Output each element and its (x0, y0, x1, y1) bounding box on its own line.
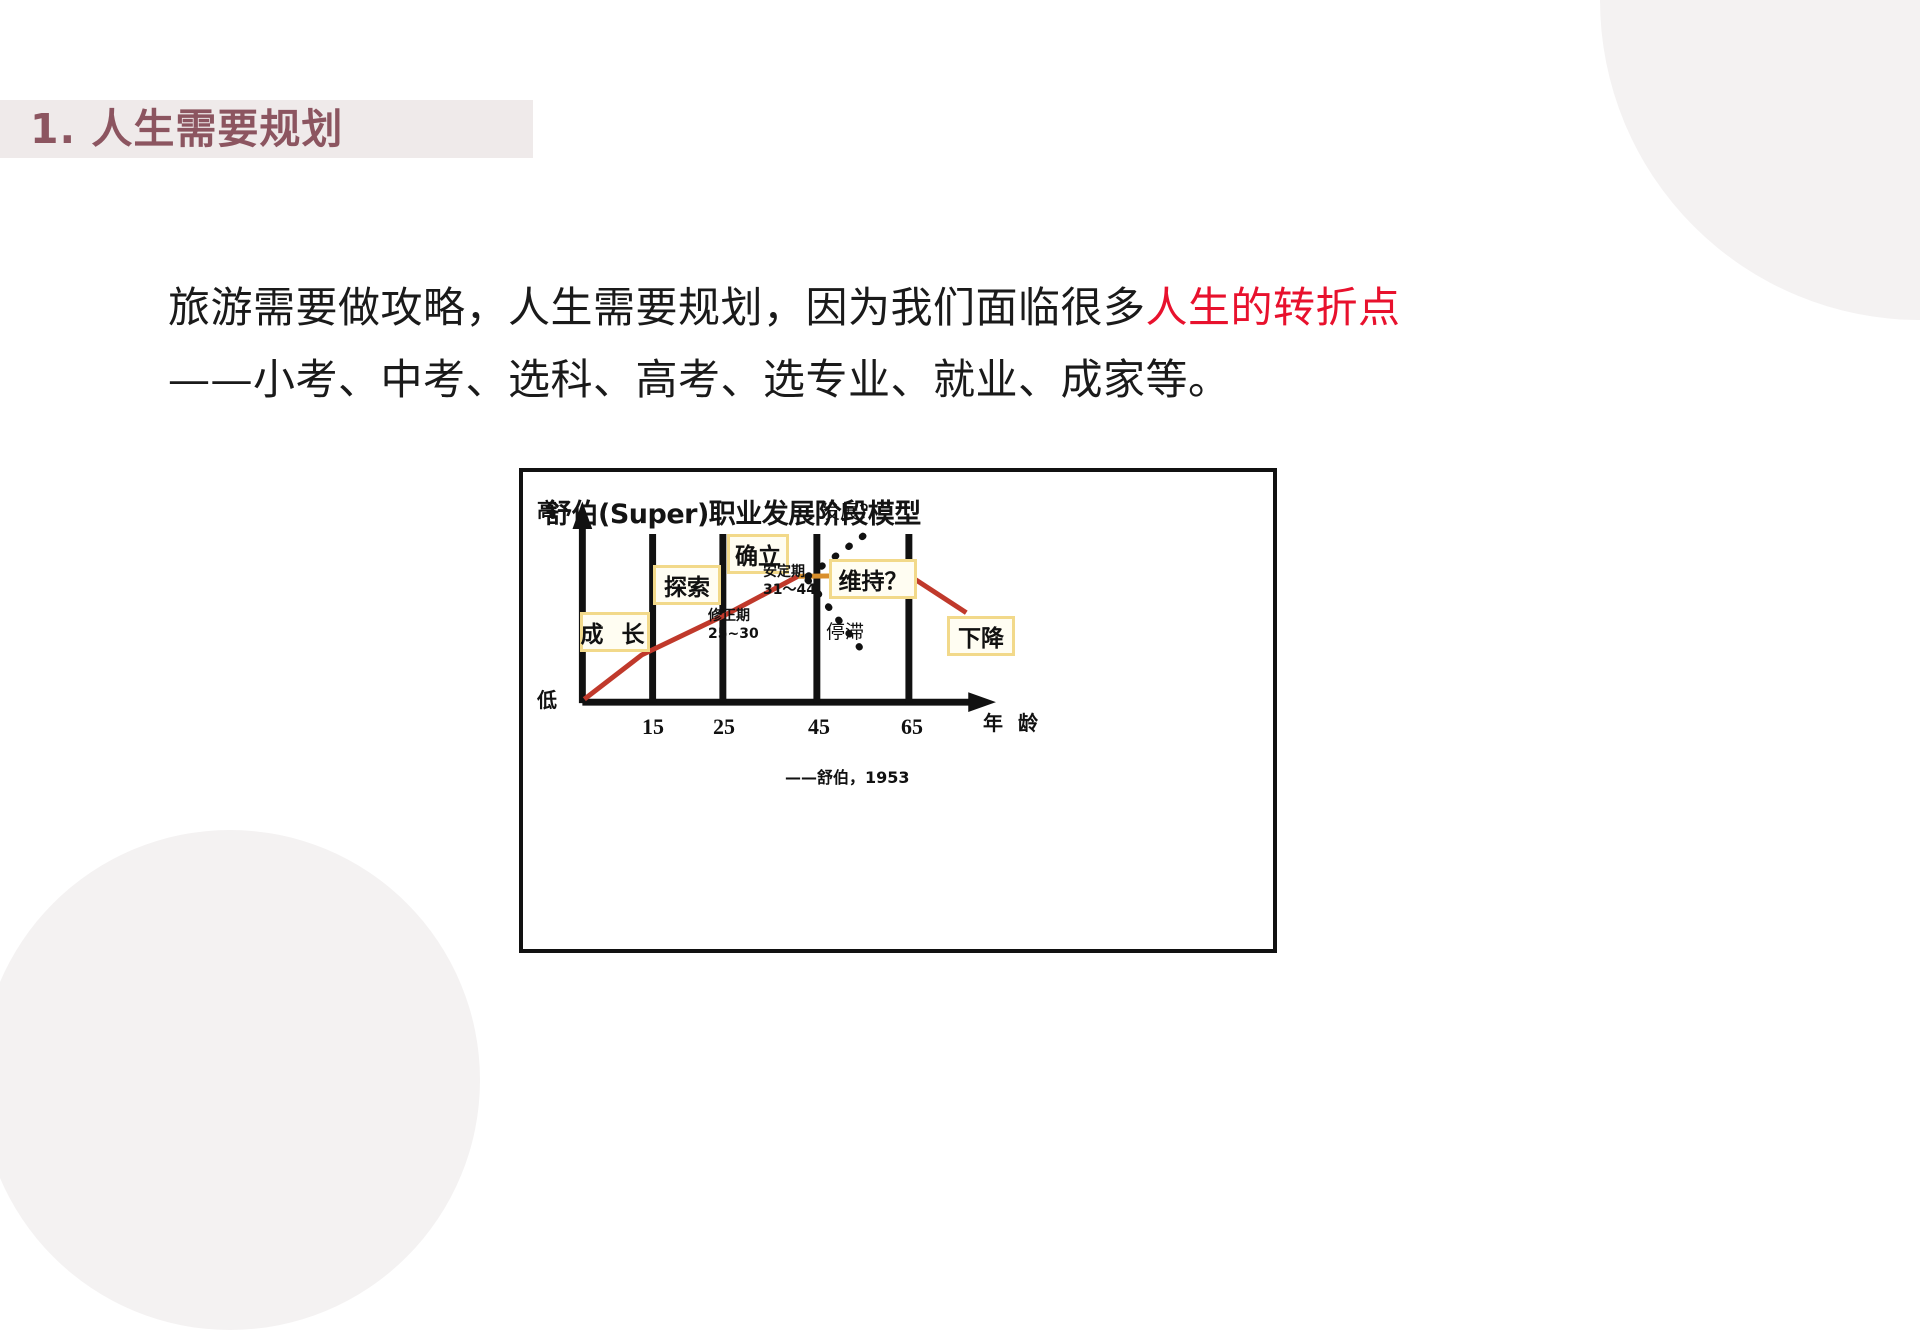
body-highlight-1: 人生的转折 (1146, 283, 1359, 332)
career-curve-decline (909, 575, 966, 612)
sub-note-stability-title: 安定期 (763, 564, 816, 582)
sub-note-adjustment-title: 修正期 (708, 608, 759, 626)
diagram-vector-layer (523, 472, 1273, 949)
page-title: 1. 人生需要规划 (30, 109, 343, 150)
y-axis-label-low: 低 (537, 690, 557, 710)
x-axis-label: 年 龄 (983, 713, 1042, 733)
body-highlight-2: 点 (1358, 283, 1401, 332)
sub-note-stability-range: 31～44 (763, 582, 816, 600)
stage-box-decline: 下降 (947, 616, 1015, 656)
decorative-circle-top-right (1600, 0, 1920, 320)
stage-box-maintenance: 维持？ (829, 559, 917, 599)
body-text-part1: 旅游需要做攻略，人生需要规划，因为我们面临很多 (168, 283, 1146, 332)
sub-note-stability: 安定期 31～44 (763, 564, 816, 599)
y-axis-label-high: 高 (537, 500, 557, 520)
x-tick-45: 45 (808, 716, 830, 738)
body-text-part2: ——小考、中考、选科、高考、选专业、就业、成家等。 (168, 355, 1231, 404)
stage-box-exploration: 探索 (653, 565, 721, 605)
branch-note-growth: 发展？ (821, 497, 878, 524)
body-paragraph: 旅游需要做攻略，人生需要规划，因为我们面临很多人生的转折点——小考、中考、选科、… (168, 272, 1458, 416)
sub-note-adjustment-range: 25~30 (708, 626, 759, 644)
decorative-circle-bottom-left (0, 830, 480, 1330)
y-axis-arrowhead (572, 502, 592, 530)
stage-box-growth: 成 长 (580, 612, 650, 652)
sub-note-adjustment: 修正期 25~30 (708, 608, 759, 643)
slide-title-banner: 1. 人生需要规划 (0, 100, 533, 158)
x-axis-arrowhead (968, 692, 996, 712)
branch-note-stagnation: 停滞 (826, 617, 864, 644)
x-tick-65: 65 (901, 716, 923, 738)
x-tick-25: 25 (713, 716, 735, 738)
x-tick-15: 15 (642, 716, 664, 738)
super-career-stage-diagram: 舒伯(Super)职业发展阶段模型 高 低 年 龄 15 25 45 65 成 … (519, 468, 1277, 953)
diagram-citation: ——舒伯，1953 (785, 764, 910, 788)
